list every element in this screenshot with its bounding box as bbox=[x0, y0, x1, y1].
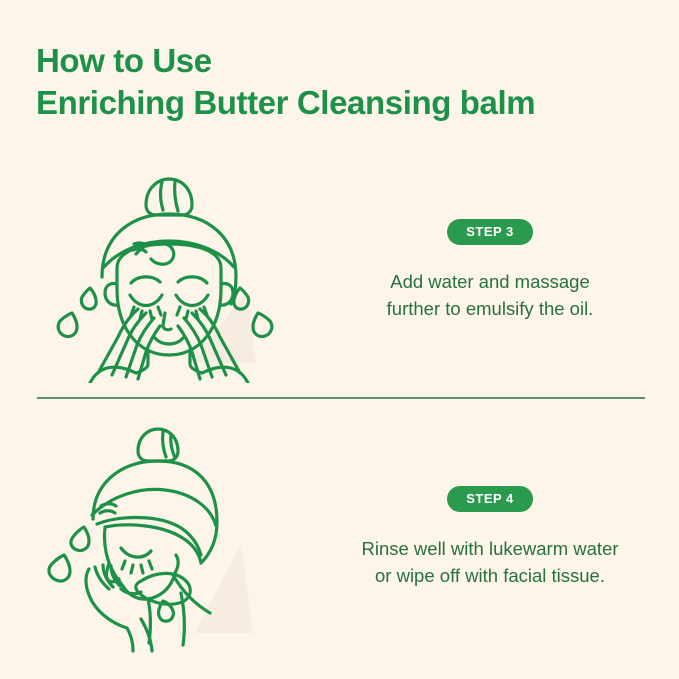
step-3-description-line-2: further to emulsify the oil. bbox=[387, 295, 594, 322]
step-4-text-container: STEP 4 Rinse well with lukewarm water or… bbox=[330, 486, 660, 589]
step-3-illustration-container bbox=[0, 158, 330, 383]
step-row-4: STEP 4 Rinse well with lukewarm water or… bbox=[0, 415, 679, 660]
step-4-description-line-1: Rinse well with lukewarm water bbox=[361, 535, 618, 562]
woman-rinsing-face-icon bbox=[45, 423, 285, 653]
woman-massaging-face-icon bbox=[50, 158, 280, 383]
step-row-3: STEP 3 Add water and massage further to … bbox=[0, 155, 679, 385]
step-3-text-container: STEP 3 Add water and massage further to … bbox=[330, 219, 660, 322]
step-4-badge: STEP 4 bbox=[447, 486, 533, 512]
step-4-illustration-container bbox=[0, 423, 330, 653]
page-title: How to Use Enriching Butter Cleansing ba… bbox=[36, 40, 656, 124]
step-4-description-line-2: or wipe off with facial tissue. bbox=[375, 562, 605, 589]
step-3-badge: STEP 3 bbox=[447, 219, 533, 245]
section-divider bbox=[37, 397, 645, 399]
page-title-line-1: How to Use bbox=[36, 40, 656, 82]
infographic-page: How to Use Enriching Butter Cleansing ba… bbox=[0, 0, 679, 679]
step-3-description-line-1: Add water and massage bbox=[390, 268, 590, 295]
page-title-line-2: Enriching Butter Cleansing balm bbox=[36, 82, 656, 124]
